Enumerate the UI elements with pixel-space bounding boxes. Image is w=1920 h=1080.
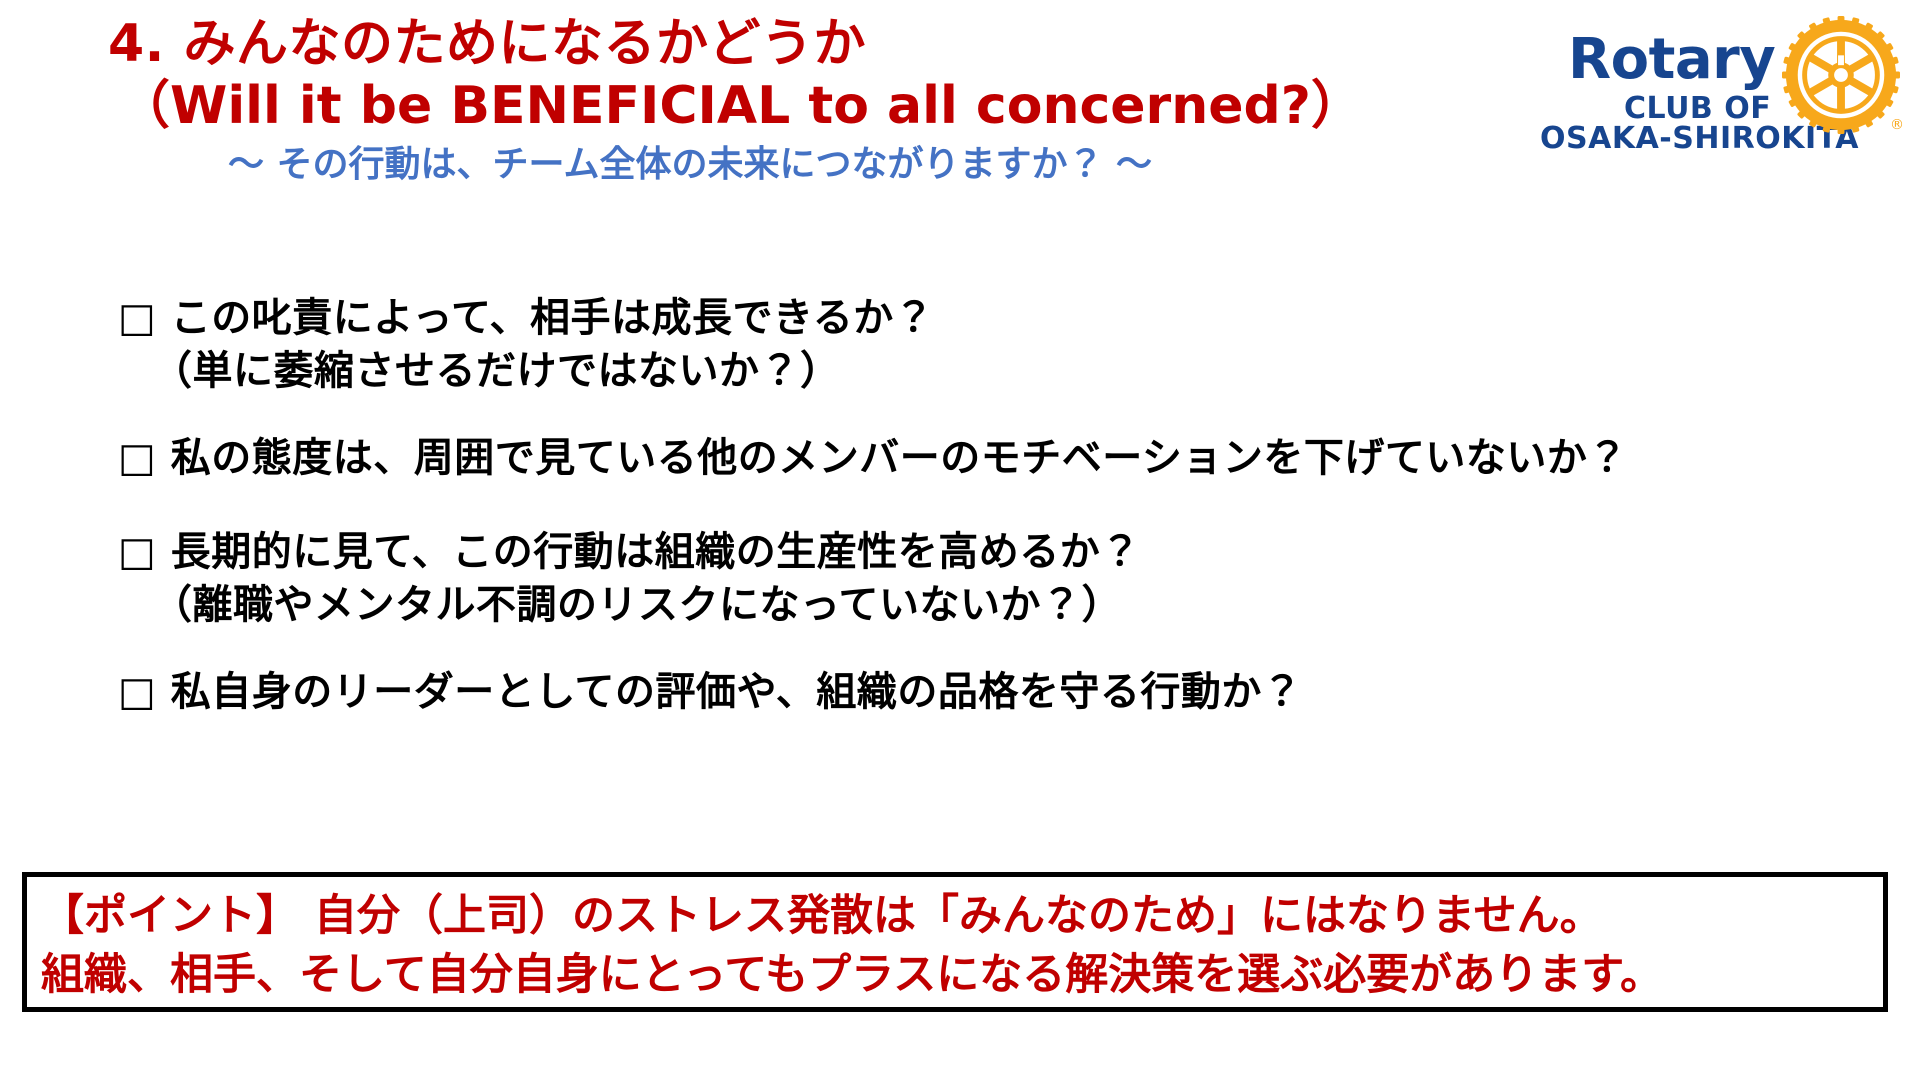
point-callout-line-1: 【ポイント】 自分（上司）のストレス発散は「みんなのため」にはなりません。 xyxy=(41,887,1873,946)
checklist: □ この叱責によって、相手は成長できるか？ （単に萎縮させるだけではないか？） … xyxy=(118,292,1900,719)
checklist-item: □ 私自身のリーダーとしての評価や、組織の品格を守る行動か？ xyxy=(118,666,1900,719)
rotary-club-logo: Rotary CLUB OF OSAKA-SHIROKITA xyxy=(1536,10,1906,160)
checklist-item: □ この叱責によって、相手は成長できるか？ （単に萎縮させるだけではないか？） xyxy=(118,292,1900,398)
page-title-japanese: 4. みんなのためになるかどうか xyxy=(0,14,1530,75)
header: 4. みんなのためになるかどうか （Will it be BENEFICIAL … xyxy=(0,14,1530,186)
page-title-english: （Will it be BENEFICIAL to all concerned?… xyxy=(0,77,1530,137)
checklist-item-main-text: □ 私の態度は、周囲で見ている他のメンバーのモチベーションを下げていないか？ xyxy=(118,432,1900,485)
rotary-wordmark: Rotary xyxy=(1568,32,1775,88)
checklist-item-main-text: □ この叱責によって、相手は成長できるか？ xyxy=(118,292,1900,345)
page-subtitle: 〜 その行動は、チーム全体の未来につながりますか？ 〜 xyxy=(0,143,1530,186)
slide-canvas: 4. みんなのためになるかどうか （Will it be BENEFICIAL … xyxy=(0,0,1920,1080)
checklist-item: □ 長期的に見て、この行動は組織の生産性を高めるか？ （離職やメンタル不調のリス… xyxy=(118,526,1900,632)
checklist-item-sub-text: （離職やメンタル不調のリスクになっていないか？） xyxy=(118,579,1900,632)
rotary-wheel-icon xyxy=(1782,16,1900,134)
checklist-item: □ 私の態度は、周囲で見ている他のメンバーのモチベーションを下げていないか？ xyxy=(118,432,1900,485)
point-callout-line-2: 組織、相手、そして自分自身にとってもプラスになる解決策を選ぶ必要があります。 xyxy=(41,946,1873,1005)
point-callout-box: 【ポイント】 自分（上司）のストレス発散は「みんなのため」にはなりません。 組織… xyxy=(22,872,1888,1012)
checklist-item-main-text: □ 私自身のリーダーとしての評価や、組織の品格を守る行動か？ xyxy=(118,666,1900,719)
rotary-club-of-label: CLUB OF xyxy=(1624,94,1771,124)
registered-trademark-icon: ® xyxy=(1890,118,1904,132)
checklist-item-main-text: □ 長期的に見て、この行動は組織の生産性を高めるか？ xyxy=(118,526,1900,579)
checklist-item-sub-text: （単に萎縮させるだけではないか？） xyxy=(118,345,1900,398)
